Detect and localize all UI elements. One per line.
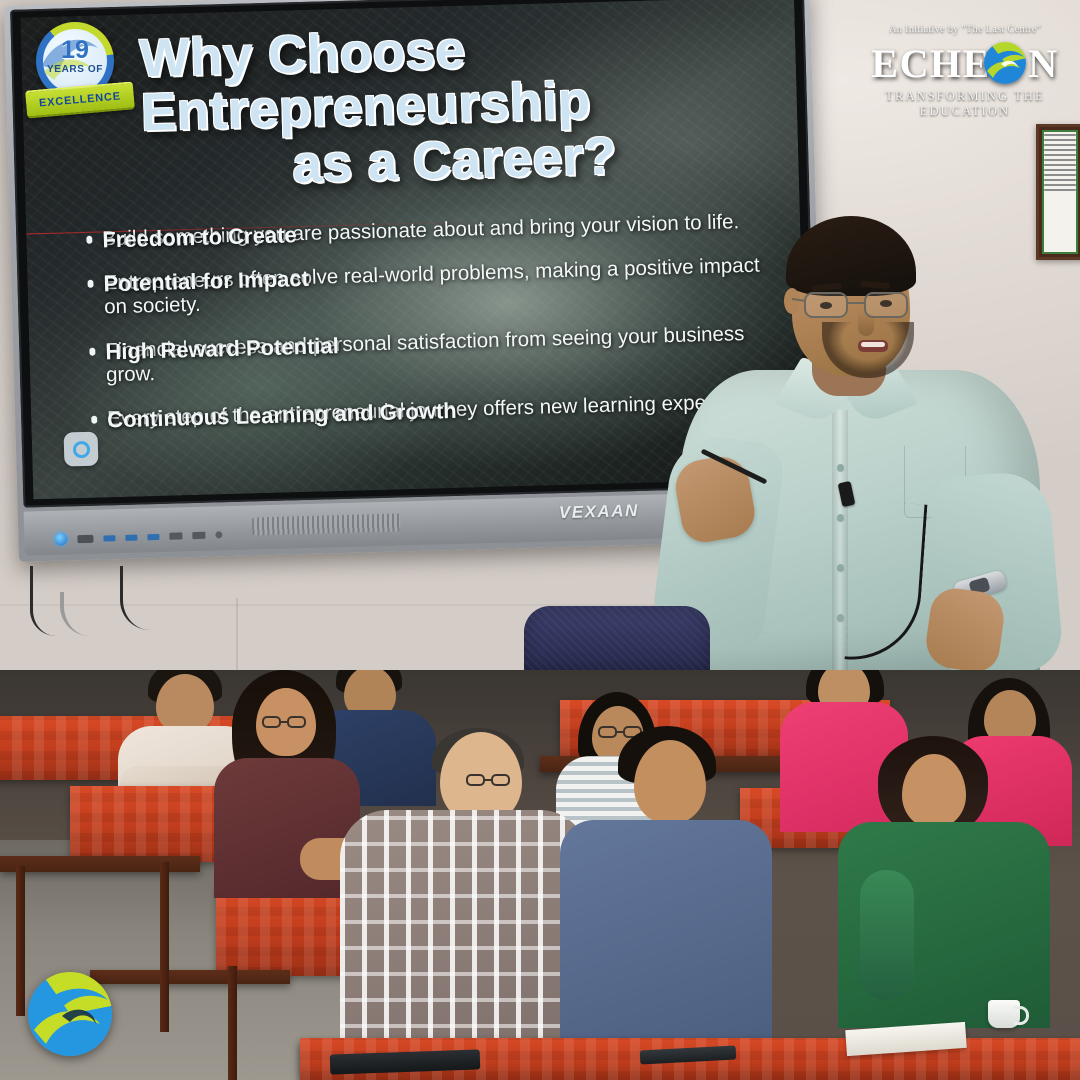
logo-tagline: TRANSFORMING THE EDUCATION	[862, 89, 1068, 119]
slide-title-line1: Why Choose Entrepreneurship	[55, 15, 772, 142]
usb-port[interactable]	[147, 533, 159, 539]
power-indicator-icon	[54, 532, 67, 545]
badge-years-label: YEARS OF	[36, 64, 114, 75]
photo-audience-lecture-hall	[0, 670, 1080, 1080]
bullet-heading-text: Freedom to Create	[102, 222, 297, 253]
presenter-ear	[784, 288, 800, 314]
screen-touch-menu-button[interactable]	[64, 432, 99, 467]
anniversary-badge: 19 YEARS OF EXCELLENCE	[24, 18, 136, 122]
speaker-grille	[252, 513, 400, 535]
shirt-button	[837, 564, 844, 571]
logo-wordmark-text: ECHEL N	[871, 40, 1058, 87]
teacup	[988, 1000, 1020, 1028]
head	[156, 674, 214, 734]
badge-number: 19	[36, 36, 114, 65]
display-port-strip[interactable]	[54, 528, 222, 546]
display-brand-label: VEXAAN	[559, 501, 639, 523]
wave-globe-watermark	[28, 972, 112, 1056]
bullet-heading-text: Continuous Learning and Growth	[107, 398, 457, 433]
shirt-button	[837, 464, 844, 471]
logo-wordmark: ECHEL N	[862, 39, 1068, 87]
wave-glyph	[28, 972, 112, 1056]
bullet-heading: Freedom to Create	[86, 222, 297, 254]
usb-port[interactable]	[103, 535, 115, 541]
eyeglass-bridge	[848, 302, 864, 304]
presenter-mouth	[858, 340, 888, 352]
presenter-person	[636, 214, 1080, 670]
logo-initiative-line: An Initiative by "The Last Centre"	[862, 24, 1068, 35]
wall-seam	[236, 598, 238, 670]
audio-jack[interactable]	[215, 531, 222, 538]
bench-leg	[228, 966, 237, 1080]
head	[634, 740, 706, 824]
power-cable	[30, 566, 56, 636]
bullet-heading-text: Potential for Impact	[103, 266, 309, 298]
wave-glyph	[984, 42, 1026, 84]
circle-ring-icon	[72, 440, 89, 457]
presenter-nose	[858, 312, 874, 336]
office-chair	[524, 606, 710, 670]
conduit-cable	[60, 592, 112, 636]
wooden-desk	[0, 856, 200, 872]
echelon-logo: An Initiative by "The Last Centre" ECHEL…	[862, 24, 1068, 120]
shirt-button	[837, 614, 844, 621]
usb-port[interactable]	[125, 534, 137, 540]
hdmi-port[interactable]	[192, 532, 205, 539]
eyeglass-lens	[804, 292, 848, 318]
bench-leg	[16, 866, 25, 1016]
badge-ribbon-text: EXCELLENCE	[39, 90, 122, 109]
bullet-heading: Continuous Learning and Growth	[91, 398, 457, 434]
wave-globe-icon	[984, 42, 1026, 84]
wooden-desk	[90, 970, 290, 984]
presenter-hair	[786, 216, 916, 296]
bench-leg	[160, 862, 169, 1032]
dupatta	[860, 870, 914, 1000]
slide-title: Why Choose Entrepreneurship as a Career?	[55, 15, 773, 198]
composite-photo-collage: Why Choose Entrepreneurship as a Career?…	[0, 0, 1080, 1080]
presenter-hand-right	[923, 585, 1007, 670]
usb-port[interactable]	[77, 534, 93, 542]
head	[902, 754, 966, 828]
hdmi-port[interactable]	[169, 532, 182, 539]
shirt-button	[837, 514, 844, 521]
data-cable	[120, 566, 160, 630]
